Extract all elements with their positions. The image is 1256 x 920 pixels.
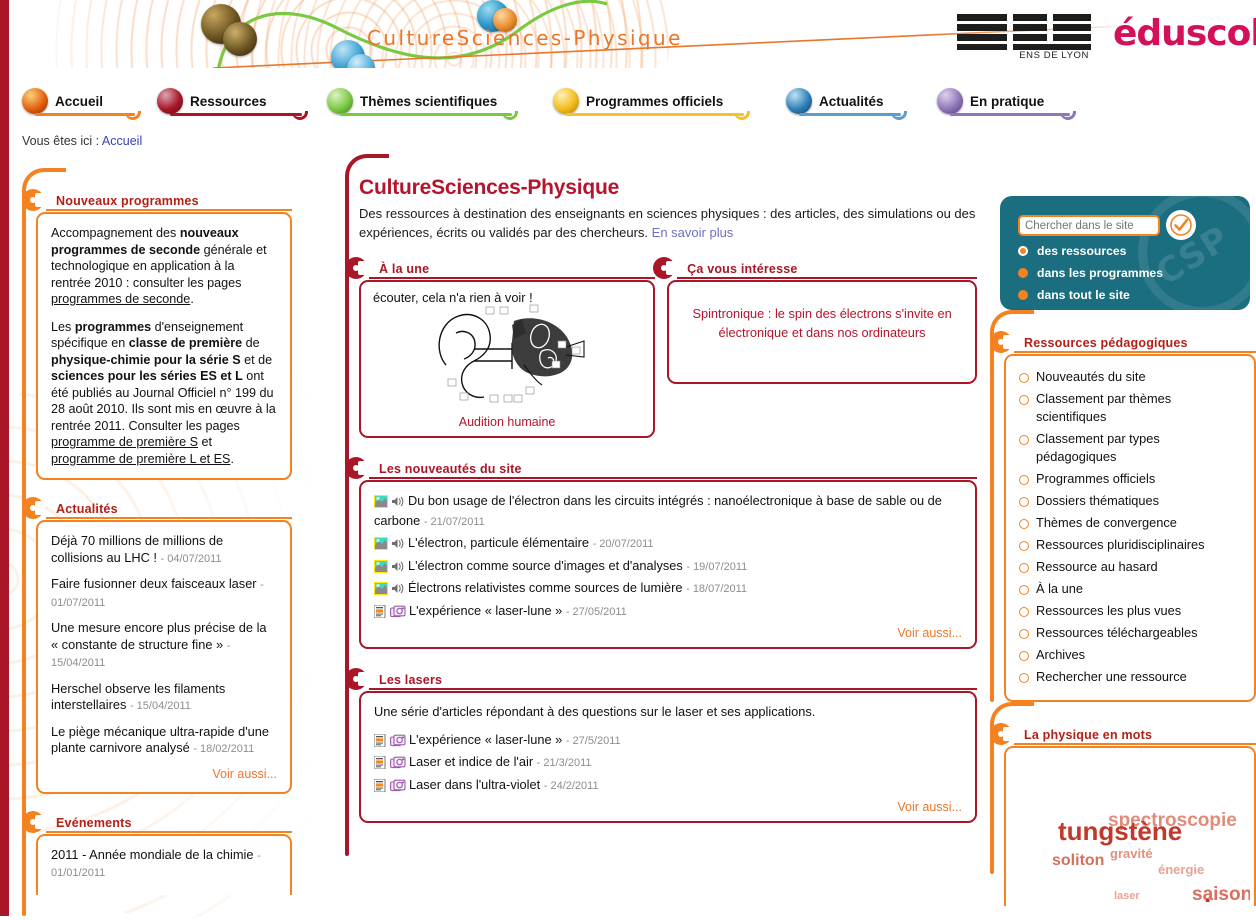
resource-link[interactable]: Dossiers thématiques (1018, 492, 1242, 510)
resource-link[interactable]: Thèmes de convergence (1018, 514, 1242, 532)
search-scope-label: dans les programmes (1037, 266, 1163, 280)
section-rule (46, 209, 292, 211)
nav-underline (170, 113, 302, 116)
section-header: Les nouveautés du site (359, 458, 977, 480)
cloud-word[interactable]: couleur (1154, 894, 1250, 902)
link-programmes-seconde[interactable]: programmes de seconde (51, 292, 190, 306)
section-marker-icon (345, 457, 367, 479)
interest-link[interactable]: Spintronique : le spin des électrons s'i… (669, 282, 975, 342)
nav-item-label: Accueil (55, 94, 103, 109)
link-premiere-s[interactable]: programme de première S (51, 435, 198, 449)
nav-item-label: Ressources (190, 94, 267, 109)
news-item[interactable]: Déjà 70 millions de millions de collisio… (51, 533, 277, 567)
right-sidebar: CSP des ressourcesdans les programmesdan… (1000, 196, 1256, 920)
programmes-paragraph-2: Les programmes d'enseignement spécifique… (51, 319, 277, 468)
search-scope-label: des ressources (1037, 244, 1126, 258)
accueil-bead (22, 88, 48, 114)
section-rule (1014, 743, 1256, 745)
section-header: Les lasers (359, 669, 977, 691)
list-item-title: L'expérience « laser-lune » (409, 603, 562, 618)
nav-underline-hook (502, 111, 518, 120)
section-header: Ressources pédagogiques (1004, 332, 1256, 354)
section-header: Actualités (36, 498, 292, 520)
molecule-orb-icon-2 (223, 22, 257, 56)
resource-link[interactable]: Programmes officiels (1018, 470, 1242, 488)
photos-icon (390, 734, 406, 747)
ca-vous-interesse-box: Spintronique : le spin des électrons s'i… (667, 280, 977, 384)
slide-icon (374, 495, 388, 508)
news-item[interactable]: Herschel observe les filaments interstel… (51, 681, 277, 715)
banner-fade-bottom (9, 68, 1256, 82)
ressources-list-box: Nouveautés du siteClassement par thèmes … (1004, 354, 1256, 702)
word-cloud: spectroscopietungstènegravitésolitonéner… (1010, 752, 1250, 902)
actualites-bead (786, 88, 812, 114)
section-title: La physique en mots (1024, 728, 1152, 742)
cloud-word[interactable]: laser (1114, 890, 1140, 902)
nav-underline-hook (292, 111, 308, 120)
section-marker-icon (22, 811, 44, 833)
resource-link[interactable]: Rechercher une ressource (1018, 668, 1242, 686)
section-rule (677, 277, 977, 279)
breadcrumb-prefix: Vous êtes ici : (22, 134, 99, 148)
slide-icon (374, 582, 388, 595)
slide-icon (374, 560, 388, 573)
a-la-une-box[interactable]: écouter, cela n'a rien à voir ! (359, 280, 655, 438)
eduscol-logo[interactable]: éduscol (1113, 16, 1256, 52)
search-submit-button[interactable] (1166, 210, 1196, 240)
voir-aussi-link[interactable]: Voir aussi... (374, 800, 962, 814)
list-item-title: Électrons relativistes comme sources de … (408, 580, 683, 595)
p2-mid: et (198, 435, 212, 449)
p1-end: . (190, 292, 194, 306)
list-item-title: L'expérience « laser-lune » (409, 732, 562, 747)
p2-g: et de (241, 353, 273, 367)
sound-icon (391, 582, 405, 595)
section-header: Evénements (36, 812, 292, 834)
breadcrumb: Vous êtes ici : Accueil (22, 134, 142, 148)
ens-de-lyon-logo[interactable]: ENS DE LYON (957, 14, 1091, 64)
section-rule (369, 477, 977, 479)
sound-icon (391, 495, 405, 508)
nav-underline-hook (734, 111, 750, 120)
word-cloud-box: spectroscopietungstènegravitésolitonéner… (1004, 746, 1256, 906)
list-item-title: Laser et indice de l'air (409, 754, 533, 769)
list-item-date: - 24/2/2011 (544, 780, 599, 792)
section-ressources-pedagogiques: Ressources pédagogiques Nouveautés du si… (990, 332, 1256, 702)
p2-a: Les (51, 320, 75, 334)
section-nouveaux-programmes: Nouveaux programmes Accompagnement des n… (36, 190, 292, 480)
section-marker-icon (22, 497, 44, 519)
list-item-date: - 21/07/2011 (424, 516, 485, 528)
cloud-word[interactable]: énergie (1158, 862, 1204, 877)
section-header: À la une (359, 258, 655, 280)
section-marker-icon (990, 331, 1012, 353)
nav-underline (950, 113, 1070, 116)
p2-f: physique-chimie pour la série S (51, 353, 241, 367)
p2-h: sciences pour les séries ES et L (51, 369, 243, 383)
section-physique-en-mots: La physique en mots spectroscopietungstè… (990, 724, 1256, 906)
section-title: Actualités (56, 502, 118, 516)
article-icon (374, 605, 387, 618)
news-item-date: - 18/02/2011 (193, 743, 254, 755)
section-title: Evénements (56, 816, 132, 830)
ens-caption: ENS DE LYON (1019, 50, 1089, 61)
section-marker-icon (22, 189, 44, 211)
main-content-column: CultureSciences-Physique Des ressources … (345, 176, 977, 837)
section-nouveautes: Les nouveautés du site Du bon usage de l… (359, 458, 977, 649)
ens-bars-icon (957, 14, 1091, 50)
section-title: Ça vous intéresse (687, 262, 797, 276)
article-icon (374, 779, 387, 792)
news-item-date: - 04/07/2011 (161, 553, 222, 565)
radio-button[interactable] (1018, 290, 1028, 300)
left-column-rail (22, 190, 26, 916)
search-scope-label: dans tout le site (1037, 288, 1130, 302)
nouveautes-box: Du bon usage de l'électron dans les circ… (359, 480, 977, 649)
section-rule (46, 517, 292, 519)
resource-link[interactable]: À la une (1018, 580, 1242, 598)
nav-item-label: Programmes officiels (586, 94, 723, 109)
main-column-rail-hook (345, 154, 389, 180)
news-item[interactable]: Faire fusionner deux faisceaux laser - 0… (51, 576, 277, 611)
list-item[interactable]: L'expérience « laser-lune » - 27/05/2011 (374, 601, 962, 623)
resource-link[interactable]: Ressource au hasard (1018, 558, 1242, 576)
list-item[interactable]: L'électron comme source d'images et d'an… (374, 556, 962, 578)
section-ca-vous-interesse: Ça vous intéresse Spintronique : le spin… (667, 258, 977, 438)
search-scope-option[interactable]: dans tout le site (1018, 288, 1130, 302)
section-header: La physique en mots (1004, 724, 1256, 746)
list-item[interactable]: Laser dans l'ultra-violet - 24/2/2011 (374, 775, 962, 797)
sound-icon (391, 537, 405, 550)
resource-link[interactable]: Classement par types pédagogiques (1018, 430, 1242, 466)
programmes-paragraph-1: Accompagnement des nouveaux programmes d… (51, 225, 277, 308)
voir-aussi-link[interactable]: Voir aussi... (51, 767, 277, 781)
section-a-la-une: À la une écouter, cela n'a rien à voir ! (359, 258, 655, 438)
evenements-box: 2011 - Année mondiale de la chimie - 01/… (36, 834, 292, 895)
news-item-title: Une mesure encore plus précise de la « c… (51, 620, 267, 652)
section-rule (46, 831, 292, 833)
lasers-intro: Une série d'articles répondant à des que… (374, 702, 962, 722)
list-item[interactable]: Du bon usage de l'électron dans les circ… (374, 491, 962, 532)
section-rule (369, 688, 977, 690)
article-icon (374, 734, 387, 747)
news-item[interactable]: Une mesure encore plus précise de la « c… (51, 620, 277, 672)
section-lasers: Les lasers Une série d'articles répondan… (359, 669, 977, 823)
page-lede: Des ressources à destination des enseign… (359, 204, 977, 242)
p2-end: . (230, 452, 234, 466)
photos-icon (390, 605, 406, 618)
list-item[interactable]: L'expérience « laser-lune » - 27/5/2011 (374, 730, 962, 752)
nav-underline-hook (125, 111, 141, 120)
check-icon (1170, 214, 1192, 236)
p2-b: programmes (75, 320, 151, 334)
cloud-word[interactable]: gravité (1110, 846, 1153, 861)
list-item-title: L'électron, particule élémentaire (408, 535, 589, 550)
search-input[interactable] (1018, 215, 1160, 236)
section-header: Nouveaux programmes (36, 190, 292, 212)
nav-underline (799, 113, 901, 116)
nav-item-label: En pratique (970, 94, 1044, 109)
search-scope-option[interactable]: des ressources (1018, 244, 1126, 258)
header-banner: CultureSciences-Physique ENS DE LYON édu… (9, 0, 1256, 82)
site-logo-text[interactable]: CultureSciences-Physique (367, 26, 683, 50)
resource-link[interactable]: Nouveautés du site (1018, 368, 1242, 386)
section-title: Ressources pédagogiques (1024, 336, 1188, 350)
article-icon (374, 756, 387, 769)
list-item-date: - 27/05/2011 (566, 606, 627, 618)
list-item-date: - 19/07/2011 (686, 561, 747, 573)
site-search-panel: CSP des ressourcesdans les programmesdan… (1000, 196, 1250, 310)
list-item-date: - 18/07/2011 (686, 583, 747, 595)
programmes-bead (553, 88, 579, 114)
section-evenements: Evénements 2011 - Année mondiale de la c… (36, 812, 292, 895)
news-item[interactable]: Le piège mécanique ultra-rapide d'une pl… (51, 724, 277, 758)
ressources-bead (157, 88, 183, 114)
nav-underline (35, 113, 135, 116)
breadcrumb-current[interactable]: Accueil (102, 134, 142, 148)
a-la-une-caption[interactable]: Audition humaine (373, 415, 641, 429)
cloud-word[interactable]: tungstène (1058, 816, 1182, 847)
nav-underline-hook (891, 111, 907, 120)
section-marker-icon (345, 257, 367, 279)
themes-bead (327, 88, 353, 114)
resource-link[interactable]: Ressources les plus vues (1018, 602, 1242, 620)
section-title: À la une (379, 262, 429, 276)
list-item[interactable]: Électrons relativistes comme sources de … (374, 578, 962, 600)
photos-icon (390, 779, 406, 792)
nouveaux-programmes-box: Accompagnement des nouveaux programmes d… (36, 212, 292, 480)
radio-button[interactable] (1018, 268, 1028, 278)
section-actualites: Actualités Déjà 70 millions de millions … (36, 498, 292, 794)
list-item[interactable]: Laser et indice de l'air - 21/3/2011 (374, 752, 962, 774)
lasers-box: Une série d'articles répondant à des que… (359, 691, 977, 823)
cloud-word[interactable]: soliton (1052, 852, 1104, 870)
news-item[interactable]: 2011 - Année mondiale de la chimie - 01/… (51, 847, 277, 882)
main-navigation: AccueilRessourcesThèmes scientifiquesPro… (9, 82, 1256, 122)
photos-icon (390, 756, 406, 769)
section-title: Les nouveautés du site (379, 462, 522, 476)
news-item-title: Faire fusionner deux faisceaux laser (51, 576, 257, 591)
sound-icon (391, 560, 405, 573)
section-header: Ça vous intéresse (667, 258, 977, 280)
section-marker-icon (345, 668, 367, 690)
resource-link[interactable]: Archives (1018, 646, 1242, 664)
pratique-bead (937, 88, 963, 114)
section-marker-icon (990, 723, 1012, 745)
cloud-column-rail (990, 724, 994, 874)
nav-item-label: Actualités (819, 94, 884, 109)
nav-underline (566, 113, 744, 116)
section-title: Nouveaux programmes (56, 194, 199, 208)
resource-link[interactable]: Classement par thèmes scientifiques (1018, 390, 1242, 426)
news-item-title: 2011 - Année mondiale de la chimie (51, 847, 254, 862)
section-rule (1014, 351, 1256, 353)
link-en-savoir-plus[interactable]: En savoir plus (652, 225, 734, 240)
p1-a: Accompagnement des (51, 226, 180, 240)
left-sidebar: Nouveaux programmes Accompagnement des n… (22, 190, 292, 909)
nav-underline-hook (1060, 111, 1076, 120)
list-item-date: - 27/5/2011 (566, 735, 621, 747)
p2-e: de (242, 336, 260, 350)
section-marker-icon (653, 257, 675, 279)
page-left-edge-rail (0, 0, 9, 916)
list-item-date: - 20/07/2011 (593, 538, 654, 550)
nav-underline (340, 113, 512, 116)
right-column-rail (990, 332, 994, 702)
section-title: Les lasers (379, 673, 442, 687)
radio-button[interactable] (1018, 246, 1028, 256)
list-item-title: Laser dans l'ultra-violet (409, 777, 540, 792)
p2-d: classe de première (129, 336, 242, 350)
search-scope-option[interactable]: dans les programmes (1018, 266, 1163, 280)
main-column-rail (345, 176, 349, 856)
resource-link[interactable]: Ressources pluridisciplinaires (1018, 536, 1242, 554)
section-rule (369, 277, 655, 279)
ear-diagram-wrap (373, 303, 641, 409)
human-ear-anatomy-diagram-icon (426, 303, 588, 409)
nav-item-label: Thèmes scientifiques (360, 94, 497, 109)
link-premiere-l-es[interactable]: programme de première L et ES (51, 452, 230, 466)
list-item[interactable]: L'électron, particule élémentaire - 20/0… (374, 533, 962, 555)
list-item-title: L'électron comme source d'images et d'an… (408, 558, 683, 573)
slide-icon (374, 537, 388, 550)
featured-row: À la une écouter, cela n'a rien à voir ! (359, 258, 977, 438)
resource-link[interactable]: Ressources téléchargeables (1018, 624, 1242, 642)
actualites-box: Déjà 70 millions de millions de collisio… (36, 520, 292, 794)
list-item-date: - 21/3/2011 (537, 757, 592, 769)
page-title: CultureSciences-Physique (359, 176, 977, 200)
voir-aussi-link[interactable]: Voir aussi... (374, 626, 962, 640)
news-item-date: - 15/04/2011 (130, 700, 191, 712)
